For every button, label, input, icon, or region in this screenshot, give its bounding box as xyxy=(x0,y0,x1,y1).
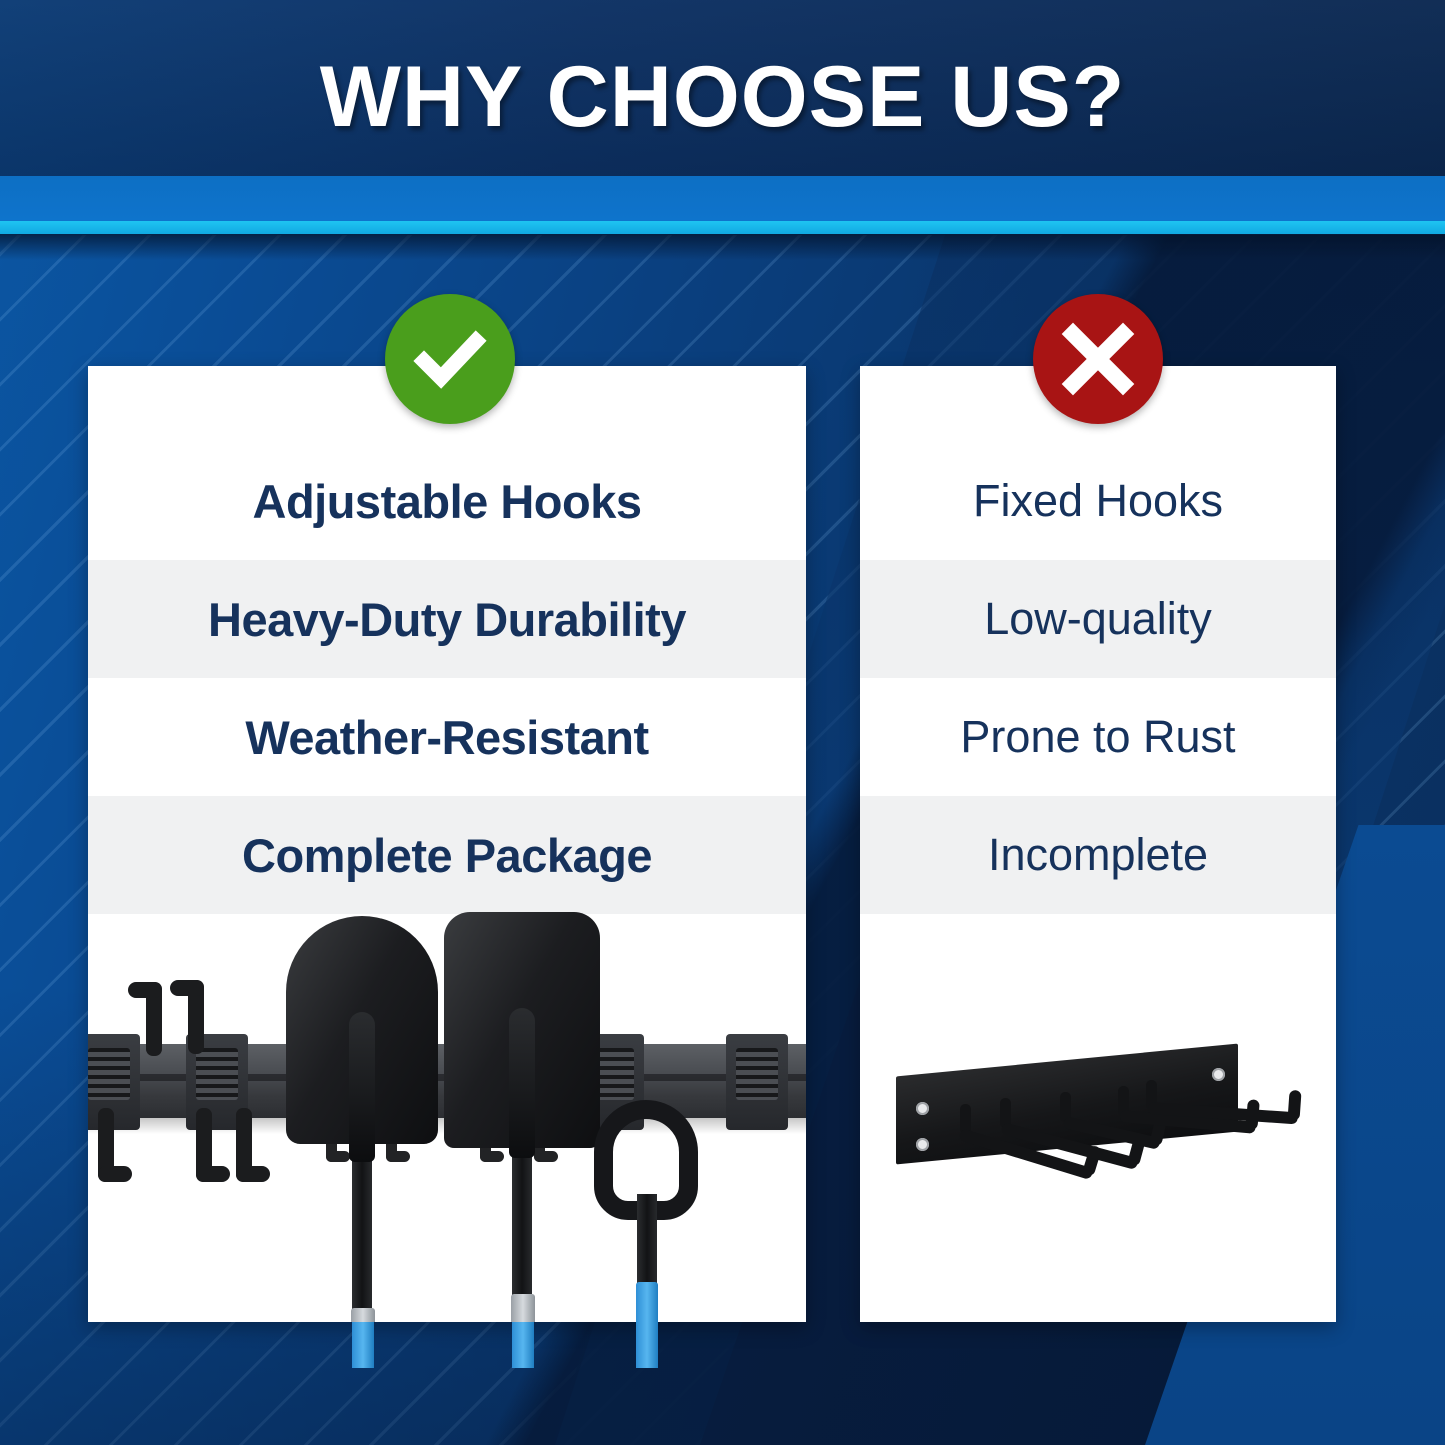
mounting-hole xyxy=(916,1138,929,1151)
cons-row: Fixed Hooks xyxy=(860,442,1336,560)
shovel-rib xyxy=(349,1012,375,1162)
pros-row-list: Adjustable Hooks Heavy-Duty Durability W… xyxy=(88,442,806,914)
square-shovel xyxy=(444,912,600,1148)
tool-blue-shaft-overflow xyxy=(636,1322,658,1368)
pros-card: Adjustable Hooks Heavy-Duty Durability W… xyxy=(88,366,806,1322)
page-title: WHY CHOOSE US? xyxy=(0,48,1445,147)
cons-row-list: Fixed Hooks Low-quality Prone to Rust In… xyxy=(860,442,1336,914)
bracket-spring xyxy=(196,1048,238,1100)
cons-row: Prone to Rust xyxy=(860,678,1336,796)
shovel-rib xyxy=(509,1008,535,1158)
check-circle-icon xyxy=(385,294,515,424)
header-cyan-divider xyxy=(0,221,1445,234)
bracket-spring xyxy=(88,1048,130,1100)
tool-blue-shaft-overflow xyxy=(512,1322,534,1368)
cross-circle-icon xyxy=(1033,294,1163,424)
tool-blue-shaft-overflow xyxy=(352,1322,374,1368)
round-point-shovel xyxy=(286,916,438,1144)
bracket-spring xyxy=(736,1048,778,1100)
pros-row: Complete Package xyxy=(88,796,806,914)
cons-row: Incomplete xyxy=(860,796,1336,914)
infographic-root: WHY CHOOSE US? Adjustable Hooks Heavy-Du… xyxy=(0,0,1445,1445)
header-drop-shadow xyxy=(0,234,1445,260)
adjustable-bracket xyxy=(88,1034,140,1130)
pros-row: Heavy-Duty Durability xyxy=(88,560,806,678)
tool-blue-shaft xyxy=(636,1282,658,1322)
shovel-ferrule xyxy=(511,1294,535,1322)
tool-shaft xyxy=(637,1194,657,1290)
shovel-ferrule xyxy=(351,1308,375,1322)
rail-hook xyxy=(188,980,204,1054)
cons-card: Fixed Hooks Low-quality Prone to Rust In… xyxy=(860,366,1336,1322)
mounting-hole xyxy=(916,1102,929,1115)
pros-product-image xyxy=(88,922,806,1322)
rail-hook xyxy=(146,982,162,1056)
adjustable-bracket xyxy=(726,1034,788,1130)
rail-hook xyxy=(196,1108,212,1182)
pros-row: Weather-Resistant xyxy=(88,678,806,796)
cons-product-image xyxy=(860,1006,1336,1306)
pros-row: Adjustable Hooks xyxy=(88,442,806,560)
rail-hook xyxy=(98,1108,114,1182)
rail-hook xyxy=(236,1108,252,1182)
cons-row: Low-quality xyxy=(860,560,1336,678)
header-blue-band xyxy=(0,176,1445,222)
mounting-hole xyxy=(1212,1068,1225,1081)
